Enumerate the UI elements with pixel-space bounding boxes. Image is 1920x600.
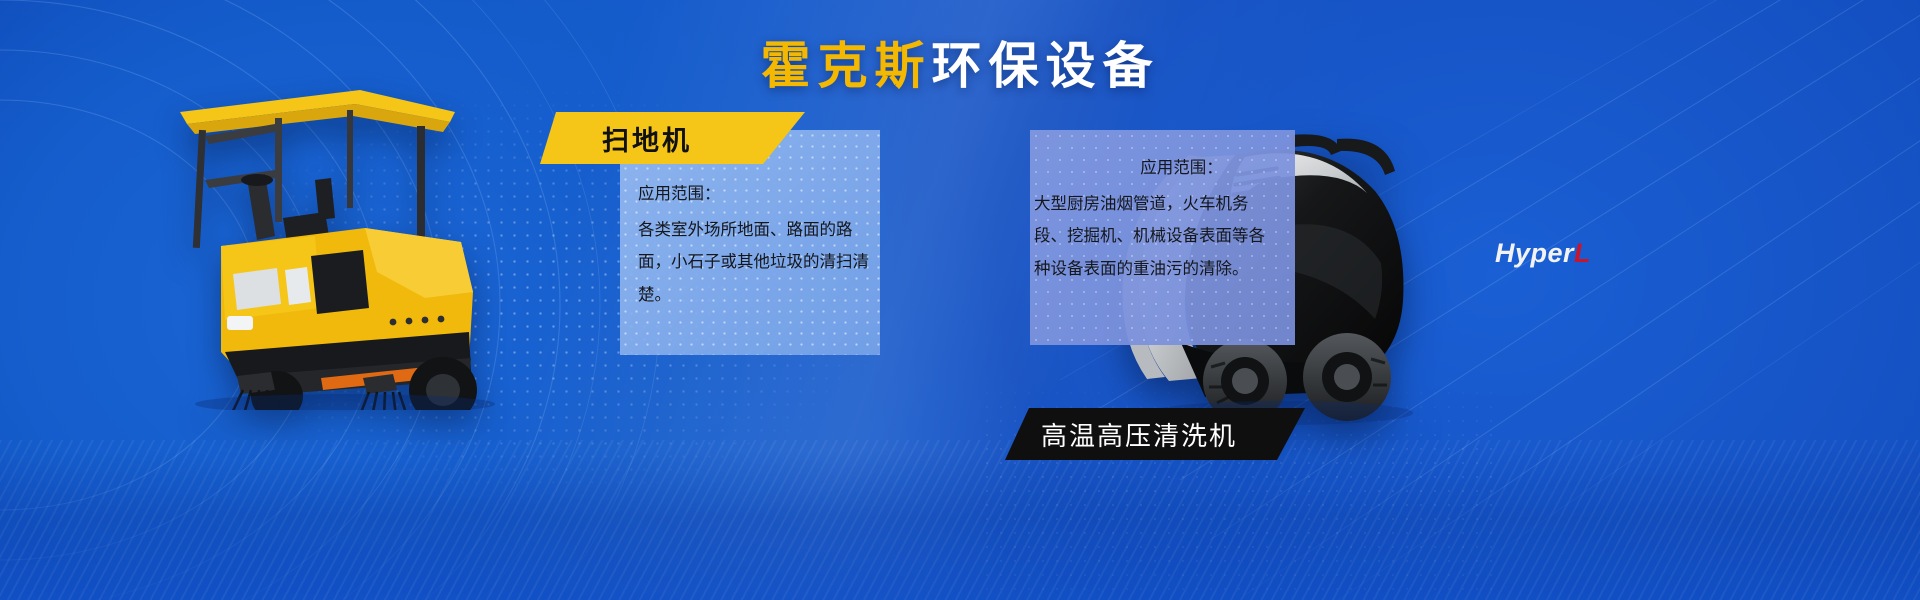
washer-panel-text: 应用范围： 大型厨房油烟管道，火车机务段、挖掘机、机械设备表面等各种设备表面的重… bbox=[1030, 130, 1295, 285]
washer-info-panel: 应用范围： 大型厨房油烟管道，火车机务段、挖掘机、机械设备表面等各种设备表面的重… bbox=[1030, 130, 1295, 345]
sweeper-category-tab[interactable]: 扫地机 bbox=[540, 112, 805, 164]
sweeper-tab-label: 扫地机 bbox=[540, 119, 692, 158]
sweeper-product-image bbox=[125, 60, 505, 410]
promo-banner: 霍克斯环保设备 bbox=[0, 0, 1920, 600]
washer-panel-lead: 应用范围： bbox=[1034, 152, 1281, 184]
title-suffix: 环保设备 bbox=[932, 38, 1160, 94]
washer-tab-label: 高温高压清洗机 bbox=[1005, 416, 1237, 453]
washer-logo-accent: L bbox=[1574, 238, 1591, 268]
washer-brand-logo: HyperL bbox=[1495, 238, 1591, 269]
sweeper-panel-lead: 应用范围： bbox=[638, 178, 880, 210]
diagonal-hatch-decoration bbox=[0, 440, 1920, 600]
washer-logo-main: Hyper bbox=[1495, 238, 1574, 268]
washer-panel-body: 大型厨房油烟管道，火车机务段、挖掘机、机械设备表面等各种设备表面的重油污的清除。 bbox=[1034, 188, 1281, 285]
sweeper-panel-body: 各类室外场所地面、路面的路面，小石子或其他垃圾的清扫清楚。 bbox=[638, 214, 880, 311]
title-brand: 霍克斯 bbox=[761, 38, 932, 94]
bottom-gradient-band bbox=[0, 450, 1920, 600]
washer-category-tab[interactable]: 高温高压清洗机 bbox=[1005, 408, 1305, 460]
